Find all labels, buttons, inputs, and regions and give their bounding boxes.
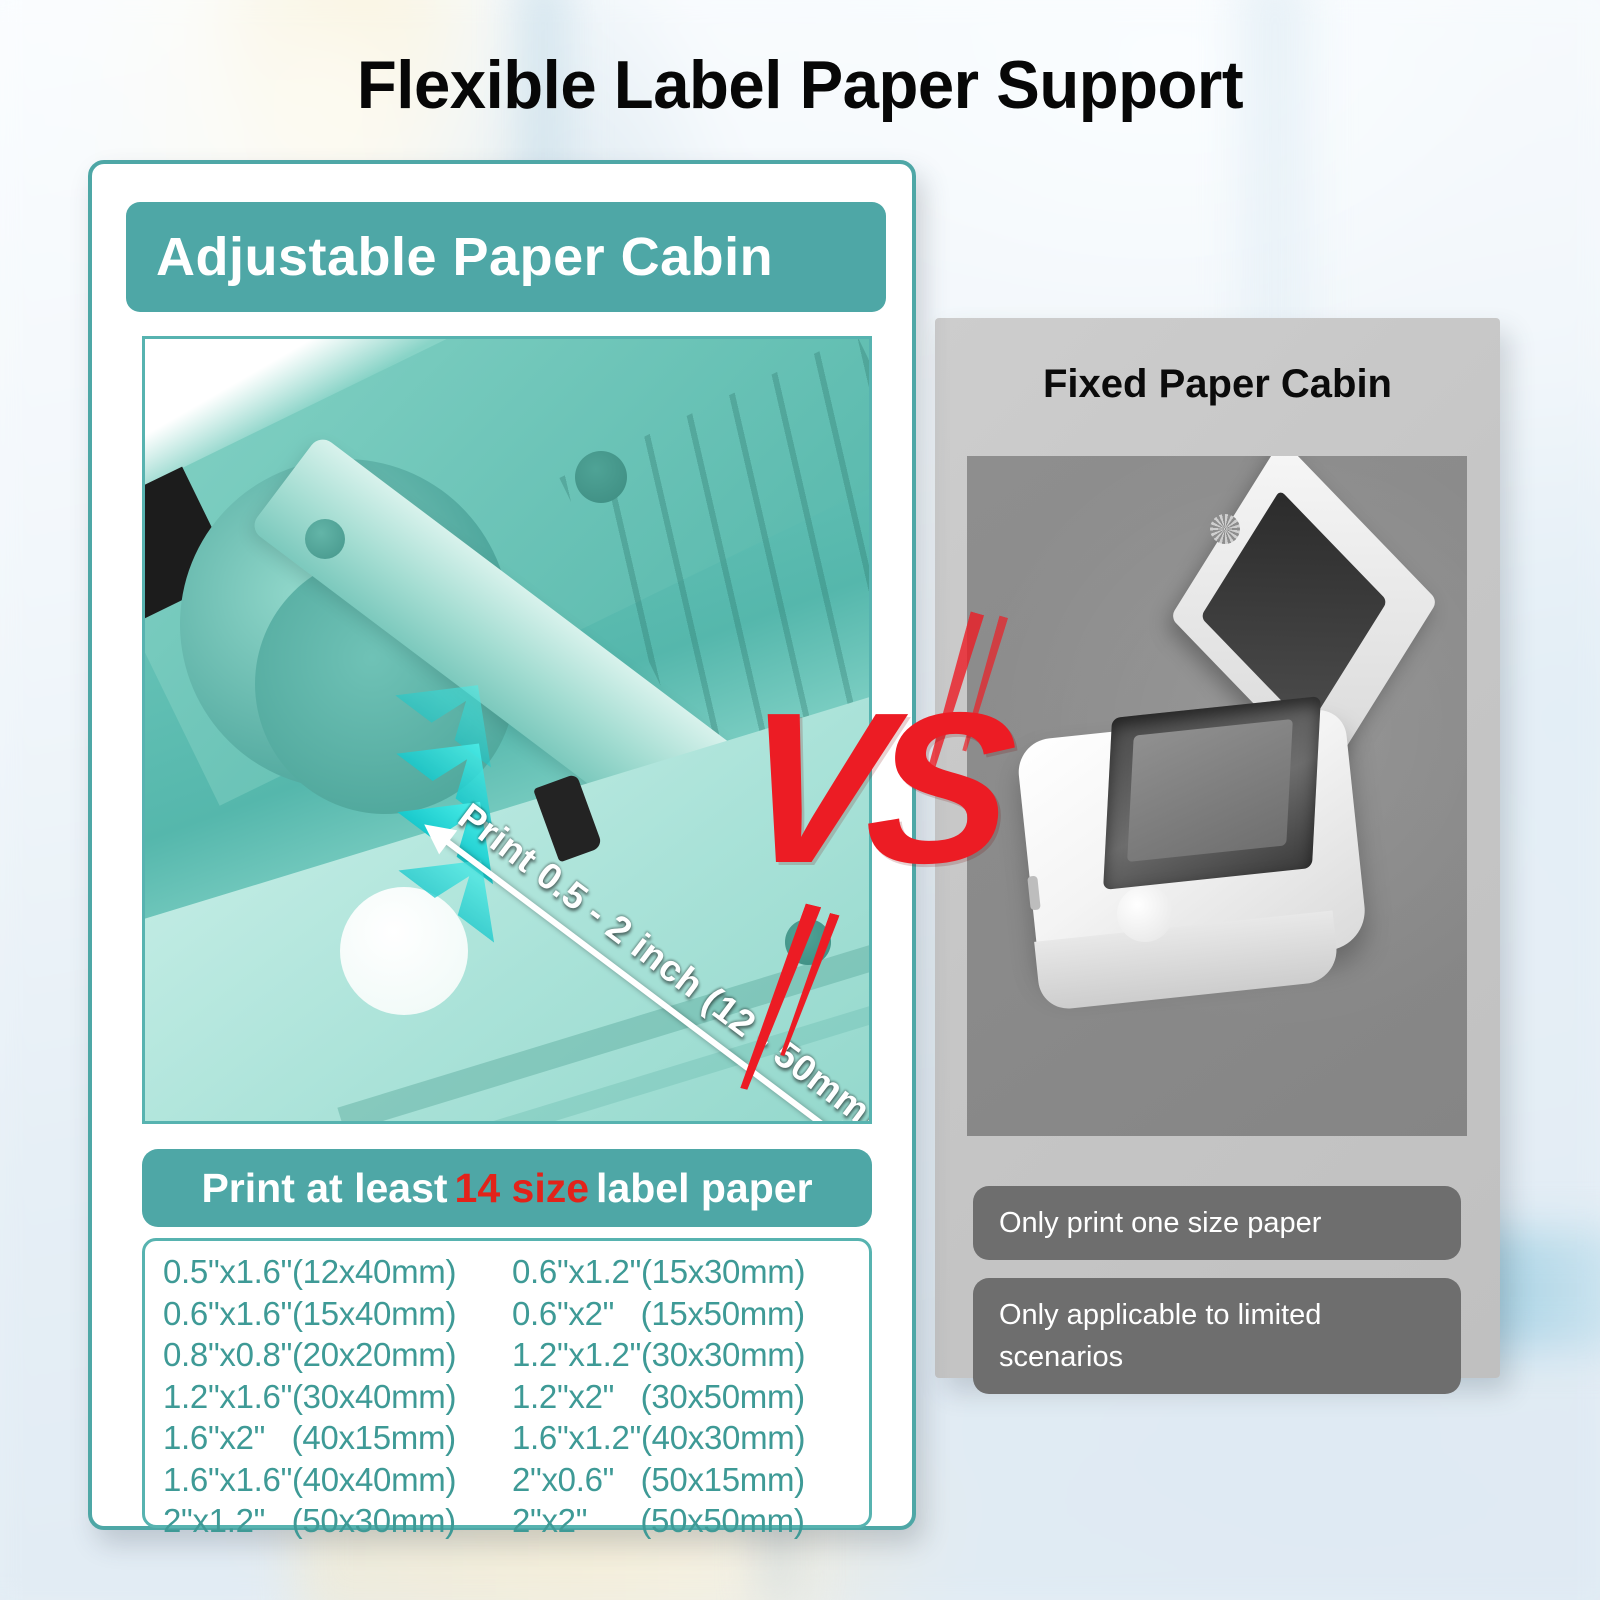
- adjustable-paper-cabin-title: Adjustable Paper Cabin: [126, 226, 773, 288]
- teal-printer-button: [340, 887, 468, 1015]
- teal-printer-photo-frame: Print 0.5 - 2 inch (12 - 50mm): [142, 336, 872, 1124]
- fixed-paper-cabin-title: Fixed Paper Cabin: [935, 362, 1500, 407]
- label-size-item: 1.6"x2" (40x15mm): [163, 1417, 502, 1459]
- teal-printer-photo: Print 0.5 - 2 inch (12 - 50mm): [145, 339, 869, 1121]
- fixed-cabin-bullet-1: Only print one size paper: [973, 1186, 1461, 1260]
- teal-screw-hole: [575, 451, 627, 503]
- label-size-item: 1.6"x1.6"(40x40mm): [163, 1459, 502, 1501]
- adjustable-paper-cabin-card: Adjustable Paper Cabin Print 0.5 - 2 inc…: [88, 160, 916, 1530]
- label-size-item: 1.6"x1.2"(40x30mm): [512, 1417, 851, 1459]
- printer-paper-well-inner: [1127, 719, 1293, 862]
- label-size-item: 0.6"x1.6"(15x40mm): [163, 1293, 502, 1335]
- white-printer-photo: [967, 456, 1467, 1136]
- sizes-banner-suffix: label paper: [596, 1165, 812, 1212]
- label-size-item: 1.2"x1.6"(30x40mm): [163, 1376, 502, 1418]
- label-size-item: 0.8"x0.8"(20x20mm): [163, 1334, 502, 1376]
- label-size-item: 0.6"x2" (15x50mm): [512, 1293, 851, 1335]
- adjustable-paper-cabin-banner: Adjustable Paper Cabin: [126, 202, 886, 312]
- label-size-item: 2"x1.2" (50x30mm): [163, 1500, 502, 1542]
- teal-screw-hole: [785, 919, 831, 965]
- label-size-item: 2"x0.6" (50x15mm): [512, 1459, 851, 1501]
- label-sizes-grid: 0.5"x1.6"(12x40mm) 0.6"x1.2"(15x30mm) 0.…: [163, 1251, 851, 1542]
- label-size-item: 2"x2" (50x50mm): [512, 1500, 851, 1542]
- label-size-item: 1.2"x2" (30x50mm): [512, 1376, 851, 1418]
- page-title: Flexible Label Paper Support: [32, 46, 1568, 124]
- fixed-paper-cabin-panel: Fixed Paper Cabin Only print one size pa…: [935, 318, 1500, 1378]
- sizes-banner-highlight: 14 size: [448, 1165, 597, 1212]
- label-sizes-box: 0.5"x1.6"(12x40mm) 0.6"x1.2"(15x30mm) 0.…: [142, 1238, 872, 1528]
- label-size-item: 0.6"x1.2"(15x30mm): [512, 1251, 851, 1293]
- label-size-item: 0.5"x1.6"(12x40mm): [163, 1251, 502, 1293]
- sizes-banner: Print at least 14 size label paper: [142, 1149, 872, 1227]
- printer-gear-icon: [1210, 514, 1240, 544]
- sizes-banner-prefix: Print at least: [201, 1165, 447, 1212]
- teal-screw-hole: [305, 519, 345, 559]
- label-size-item: 1.2"x1.2"(30x30mm): [512, 1334, 851, 1376]
- fixed-cabin-bullet-2: Only applicable to limited scenarios: [973, 1278, 1461, 1394]
